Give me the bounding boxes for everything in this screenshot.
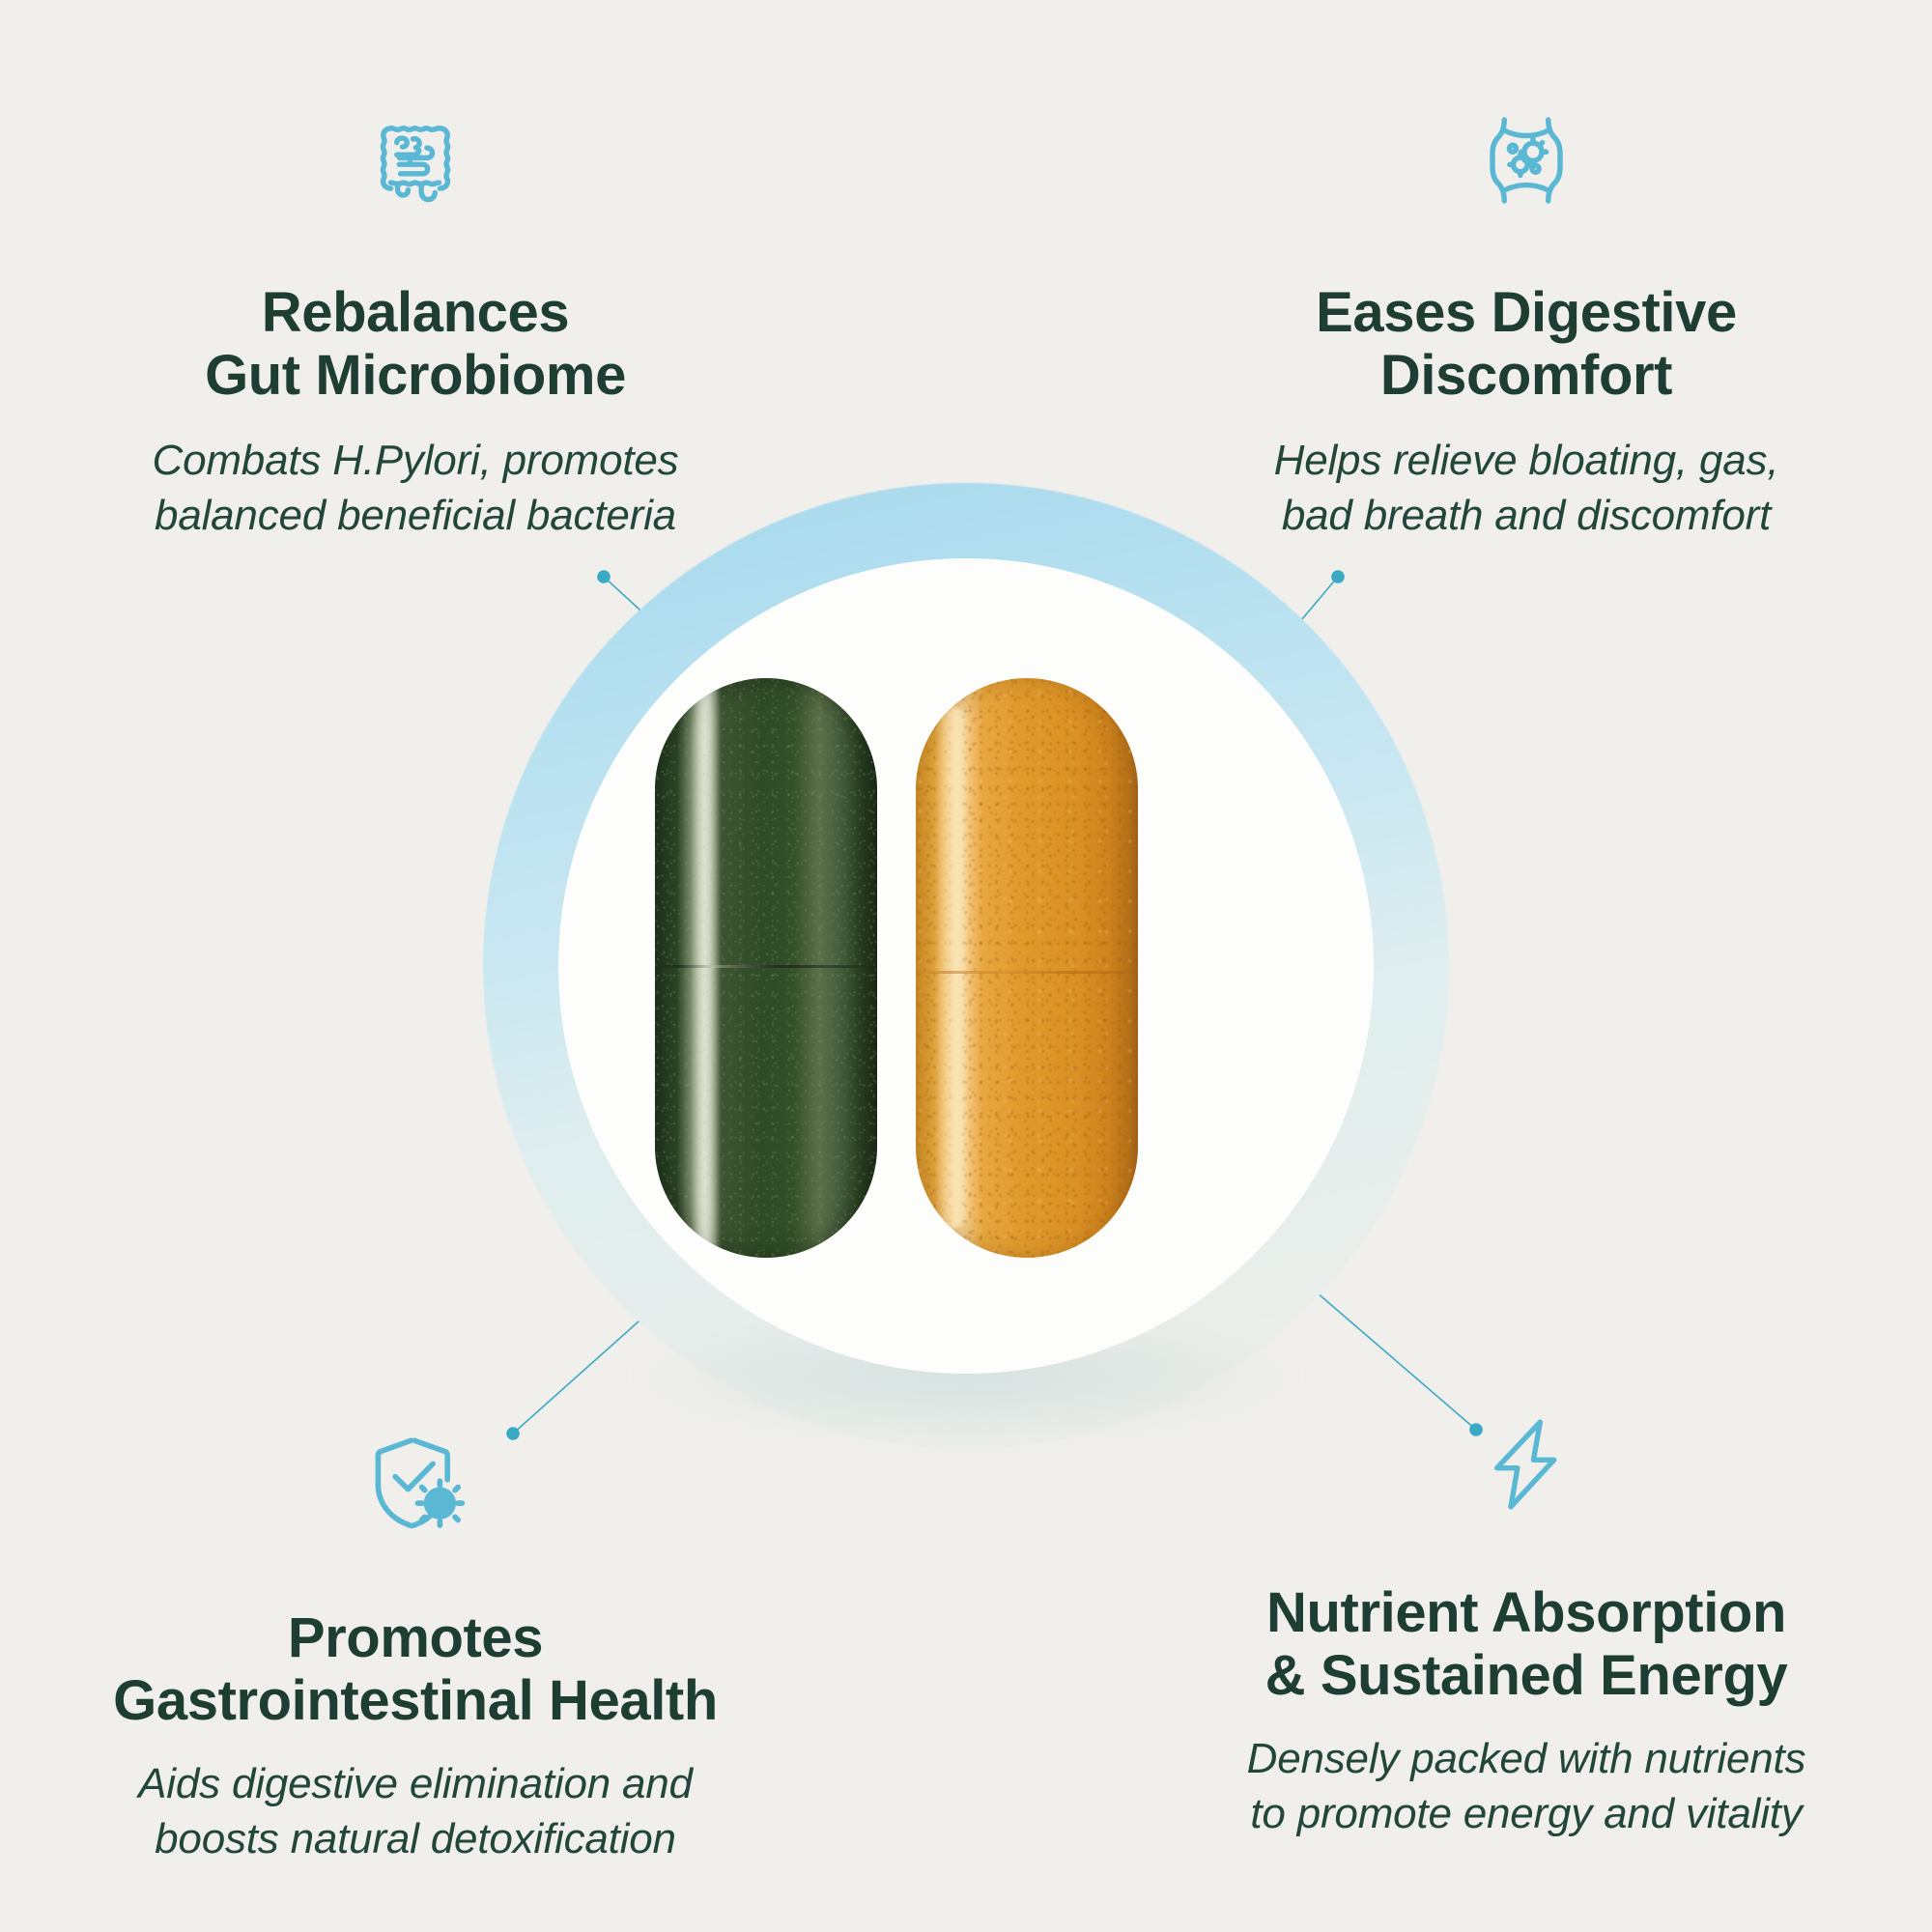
- lightning-bolt-icon: [1474, 1412, 1578, 1517]
- benefit-subtext: Helps relieve bloating, gas, bad breath …: [1274, 433, 1779, 543]
- orange-capsule-seam: [916, 971, 1138, 974]
- green-capsule: [655, 678, 877, 1258]
- orange-capsule-highlight: [936, 707, 970, 1229]
- benefit-rebalances-gut-microbiome: Rebalances Gut Microbiome Combats H.Pylo…: [58, 106, 773, 543]
- capsule-product-image: [483, 483, 1449, 1449]
- stomach-bacteria-icon: [1472, 106, 1580, 214]
- green-capsule-seam: [655, 965, 877, 968]
- benefit-subtext: Densely packed with nutrients to promote…: [1247, 1731, 1806, 1841]
- benefit-promotes-gastrointestinal-health: Promotes Gastrointestinal Health Aids di…: [19, 1430, 811, 1866]
- benefit-heading: Rebalances Gut Microbiome: [205, 282, 626, 408]
- benefit-subtext: Combats H.Pylori, promotes balanced bene…: [153, 433, 679, 543]
- orange-capsule: [916, 678, 1138, 1258]
- benefit-heading: Eases Digestive Discomfort: [1316, 282, 1737, 408]
- shield-check-virus-icon: [359, 1430, 471, 1542]
- product-benefits-infographic: Rebalances Gut Microbiome Combats H.Pylo…: [0, 0, 1932, 1932]
- benefit-eases-digestive-discomfort: Eases Digestive Discomfort Helps relieve…: [1169, 106, 1884, 543]
- benefit-nutrient-absorption-sustained-energy: Nutrient Absorption & Sustained Energy D…: [1140, 1412, 1913, 1841]
- benefit-subtext: Aids digestive elimination and boosts na…: [138, 1756, 693, 1866]
- green-capsule-texture: [655, 678, 877, 1258]
- intestine-icon: [361, 106, 469, 214]
- benefit-heading: Promotes Gastrointestinal Health: [113, 1607, 718, 1733]
- benefit-heading: Nutrient Absorption & Sustained Energy: [1265, 1582, 1788, 1708]
- green-capsule-highlight: [691, 678, 720, 1258]
